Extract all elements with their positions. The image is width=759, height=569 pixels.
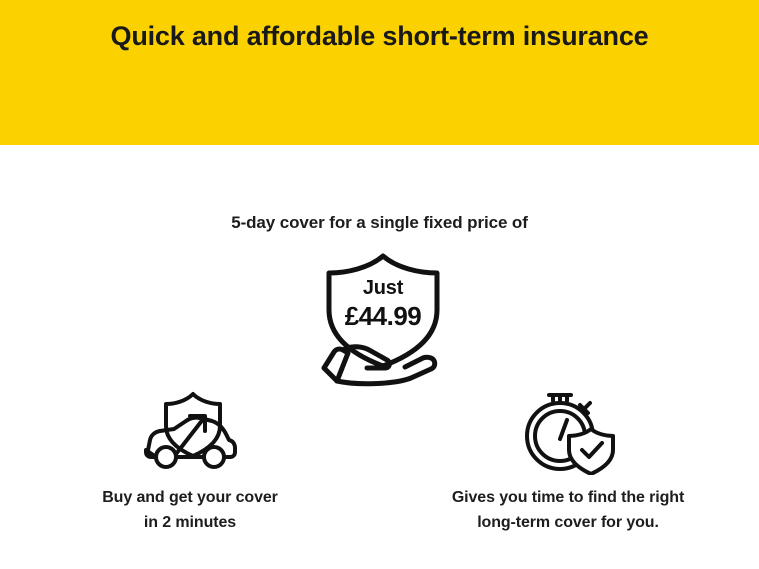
headline-clip: Buying: [0, 0, 759, 13]
car-shield-arrow-icon: [138, 388, 242, 474]
feature-caption-left-line1: Buy and get your cover: [102, 489, 278, 506]
feature-icon-wrap-left: [40, 385, 340, 477]
main-content: 5-day cover for a single fixed price of …: [0, 145, 759, 569]
banner-subtitle: Quick and affordable short-term insuranc…: [0, 19, 759, 53]
feature-caption-right-line1: Gives you time to find the right: [452, 489, 684, 506]
feature-buy-fast: Buy and get your cover in 2 minutes: [40, 385, 340, 535]
promo-page: Buying Quick and affordable short-term i…: [0, 0, 759, 569]
stopwatch-shield-check-icon: [518, 387, 618, 475]
feature-caption-left: Buy and get your cover in 2 minutes: [40, 485, 340, 535]
shield-in-hand-icon: [307, 248, 459, 388]
banner-headline: Buying: [0, 0, 759, 1]
price-card: Just £44.99: [307, 248, 459, 388]
feature-caption-right: Gives you time to find the right long-te…: [418, 485, 718, 535]
yellow-banner: Buying Quick and affordable short-term i…: [0, 0, 759, 145]
feature-caption-left-line2: in 2 minutes: [40, 510, 340, 535]
feature-time-to-choose: Gives you time to find the right long-te…: [418, 385, 718, 535]
feature-caption-right-line2: long-term cover for you.: [418, 510, 718, 535]
feature-icon-wrap-right: [418, 385, 718, 477]
lead-line: 5-day cover for a single fixed price of: [0, 213, 759, 233]
